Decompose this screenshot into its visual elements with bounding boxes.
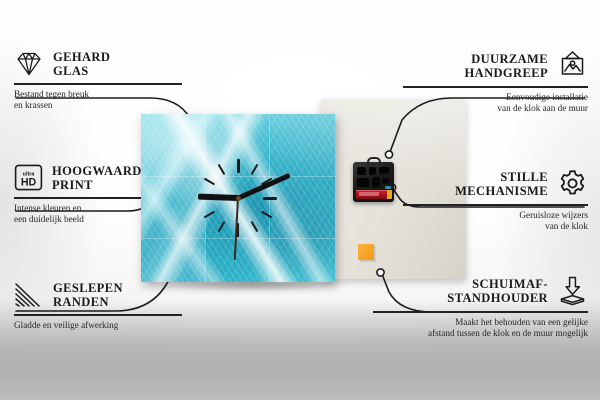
feature-title: DUURZAME HANDGREEP	[465, 52, 548, 80]
feature-title: GESLEPEN RANDEN	[53, 281, 123, 309]
movement-detail	[382, 178, 389, 184]
feature-geslepen-randen[interactable]: GESLEPEN RANDEN Gladde en veilige afwerk…	[14, 281, 189, 331]
feature-subtitle: Gladde en veilige afwerking	[14, 320, 189, 331]
movement-led	[385, 186, 391, 189]
feature-subtitle: Bestand tegen breuk en krassen	[14, 89, 189, 112]
feature-title: SCHUIMAF- STANDHOUDER	[447, 277, 548, 305]
feature-subtitle: Eenvoudige installatie van de klok aan d…	[403, 92, 588, 115]
movement-detail	[379, 167, 389, 174]
movement-detail	[372, 177, 380, 187]
feature-divider	[403, 204, 588, 206]
svg-text:HD: HD	[21, 176, 37, 188]
press-down-spacer-icon	[557, 275, 588, 306]
feature-divider	[403, 86, 588, 88]
feature-title: STILLE MECHANISME	[455, 170, 548, 198]
feature-subtitle: Maakt het behouden van een gelijke afsta…	[373, 317, 588, 340]
product-photo	[133, 96, 368, 286]
ultra-hd-icon: ultra HD	[14, 163, 43, 192]
product-infographic: GEHARD GLAS Bestand tegen breuk en krass…	[0, 0, 600, 400]
foam-spacer-orange	[358, 244, 374, 260]
beveled-edge-icon	[14, 282, 44, 308]
movement-detail	[357, 167, 366, 175]
hanger-loop-icon	[367, 157, 381, 166]
feature-title: GEHARD GLAS	[53, 50, 110, 78]
feature-header: GESLEPEN RANDEN	[14, 281, 189, 309]
clock-center-pin	[236, 196, 241, 201]
diamond-icon	[14, 50, 44, 78]
feature-header: DUURZAME HANDGREEP	[403, 50, 588, 81]
feature-subtitle: Geruisloze wijzers van de klok	[403, 210, 588, 233]
battery-terminal	[387, 190, 392, 199]
battery-label	[359, 192, 379, 196]
hanging-picture-frame-icon	[557, 50, 588, 81]
feature-divider	[14, 314, 182, 316]
feature-duurzame-handgreep[interactable]: DUURZAME HANDGREEP Eenvoudige installati…	[403, 50, 588, 114]
glass-clock-face	[141, 114, 335, 282]
feature-header: GEHARD GLAS	[14, 50, 189, 78]
feature-gehard-glas[interactable]: GEHARD GLAS Bestand tegen breuk en krass…	[14, 50, 189, 111]
feature-divider	[14, 83, 182, 85]
feature-stille-mechanisme[interactable]: STILLE MECHANISME Geruisloze wijzers van…	[403, 168, 588, 232]
movement-detail	[369, 167, 376, 175]
feature-header: STILLE MECHANISME	[403, 168, 588, 199]
movement-detail	[357, 178, 369, 187]
aa-battery	[356, 190, 391, 199]
feature-header: SCHUIMAF- STANDHOUDER	[373, 275, 588, 306]
clock-movement-module	[353, 162, 394, 202]
feature-schuimafstandhouder[interactable]: SCHUIMAF- STANDHOUDER Maakt het behouden…	[373, 275, 588, 339]
feature-divider	[373, 311, 588, 313]
gear-icon	[557, 168, 588, 199]
